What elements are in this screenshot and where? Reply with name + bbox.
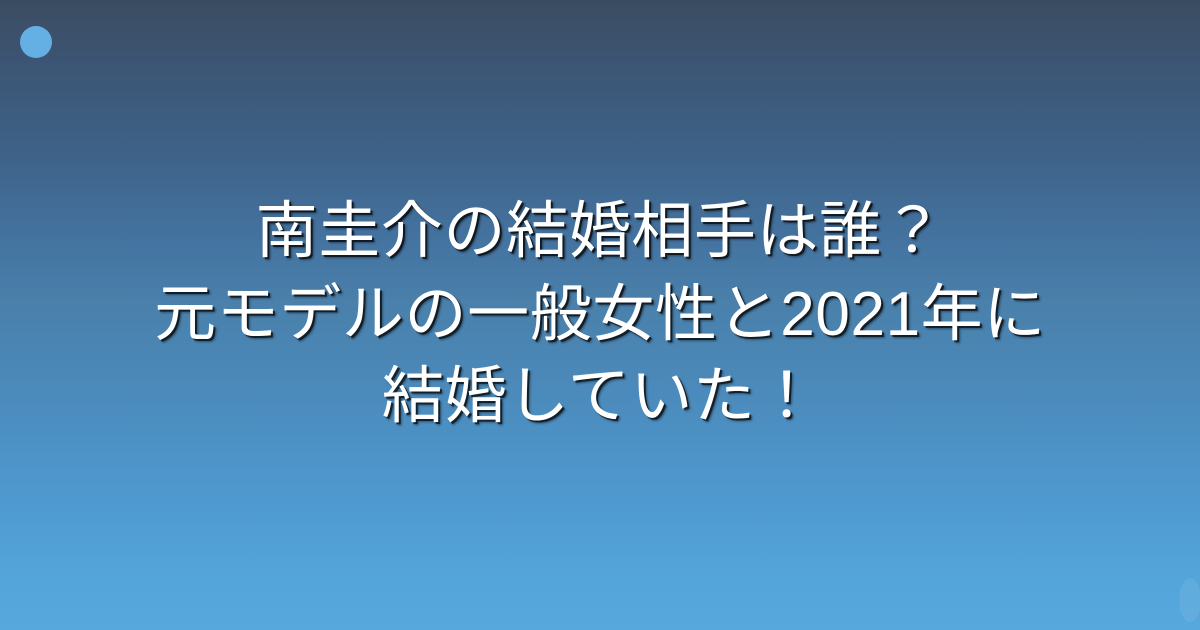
share-card: 南圭介の結婚相手は誰？ 元モデルの一般女性と2021年に 結婚していた！	[0, 0, 1200, 630]
page-title: 南圭介の結婚相手は誰？ 元モデルの一般女性と2021年に 結婚していた！	[70, 191, 1130, 438]
headline-container: 南圭介の結婚相手は誰？ 元モデルの一般女性と2021年に 結婚していた！	[0, 0, 1200, 630]
